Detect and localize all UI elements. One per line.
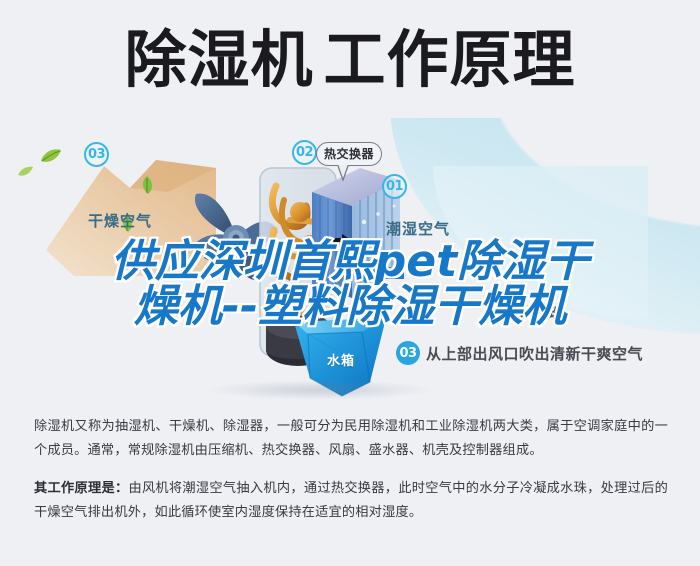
leaf-icon xyxy=(18,164,34,182)
page-title-part2: 工作原理 xyxy=(324,23,576,96)
step-badge-01: 01 xyxy=(382,174,407,199)
humid-air-flow-graphic-inner xyxy=(433,166,648,318)
leaf-icon xyxy=(40,148,62,169)
paragraph-1: 除湿机又称为抽湿机、干燥机、除湿器，一般可分为民用除湿机和工业除湿机两大类，属于… xyxy=(34,414,668,462)
step-badge-03b: 03 xyxy=(396,341,420,365)
label-water-tank: 水箱 xyxy=(327,350,355,369)
arrow-left-icon xyxy=(352,260,404,286)
step-badge-03: 03 xyxy=(84,142,109,167)
leaf-icon xyxy=(139,176,155,199)
article-body: 除湿机又称为抽湿机、干燥机、除湿器，一般可分为民用除湿机和工业除湿机两大类，属于… xyxy=(34,414,668,538)
step-badge-02: 02 xyxy=(292,140,317,165)
page-title: 除湿机工作原理 xyxy=(0,0,700,120)
paragraph-2-label: 其工作原理是： xyxy=(34,480,128,495)
label-humid-air: 潮湿空气 xyxy=(386,218,450,239)
label-dry-air: 干燥空气 xyxy=(88,210,152,231)
heat-exchanger-callout: 热交换器 xyxy=(316,142,382,166)
page-title-part1: 除湿机 xyxy=(124,23,313,96)
base-shadow xyxy=(205,380,435,400)
paragraph-2: 其工作原理是：由风机将潮湿空气抽入机内，通过热交换器，此时空气中的水分子冷凝成水… xyxy=(34,476,668,524)
infographic-page: 除湿机工作原理 xyxy=(0,0,700,566)
label-condense: 凝成水珠 xyxy=(505,303,563,323)
paragraph-2-text: 由风机将潮湿空气抽入机内，通过热交换器，此时空气中的水分子冷凝成水珠，处理过后的… xyxy=(34,480,668,519)
dehumidifier-diagram: 03 干燥空气 02 热交换器 01 潮湿空气 水箱 凝成水珠 03 从上部出风… xyxy=(0,118,700,406)
label-step03-note: 从上部出风口吹出清新干爽空气 xyxy=(426,343,643,364)
